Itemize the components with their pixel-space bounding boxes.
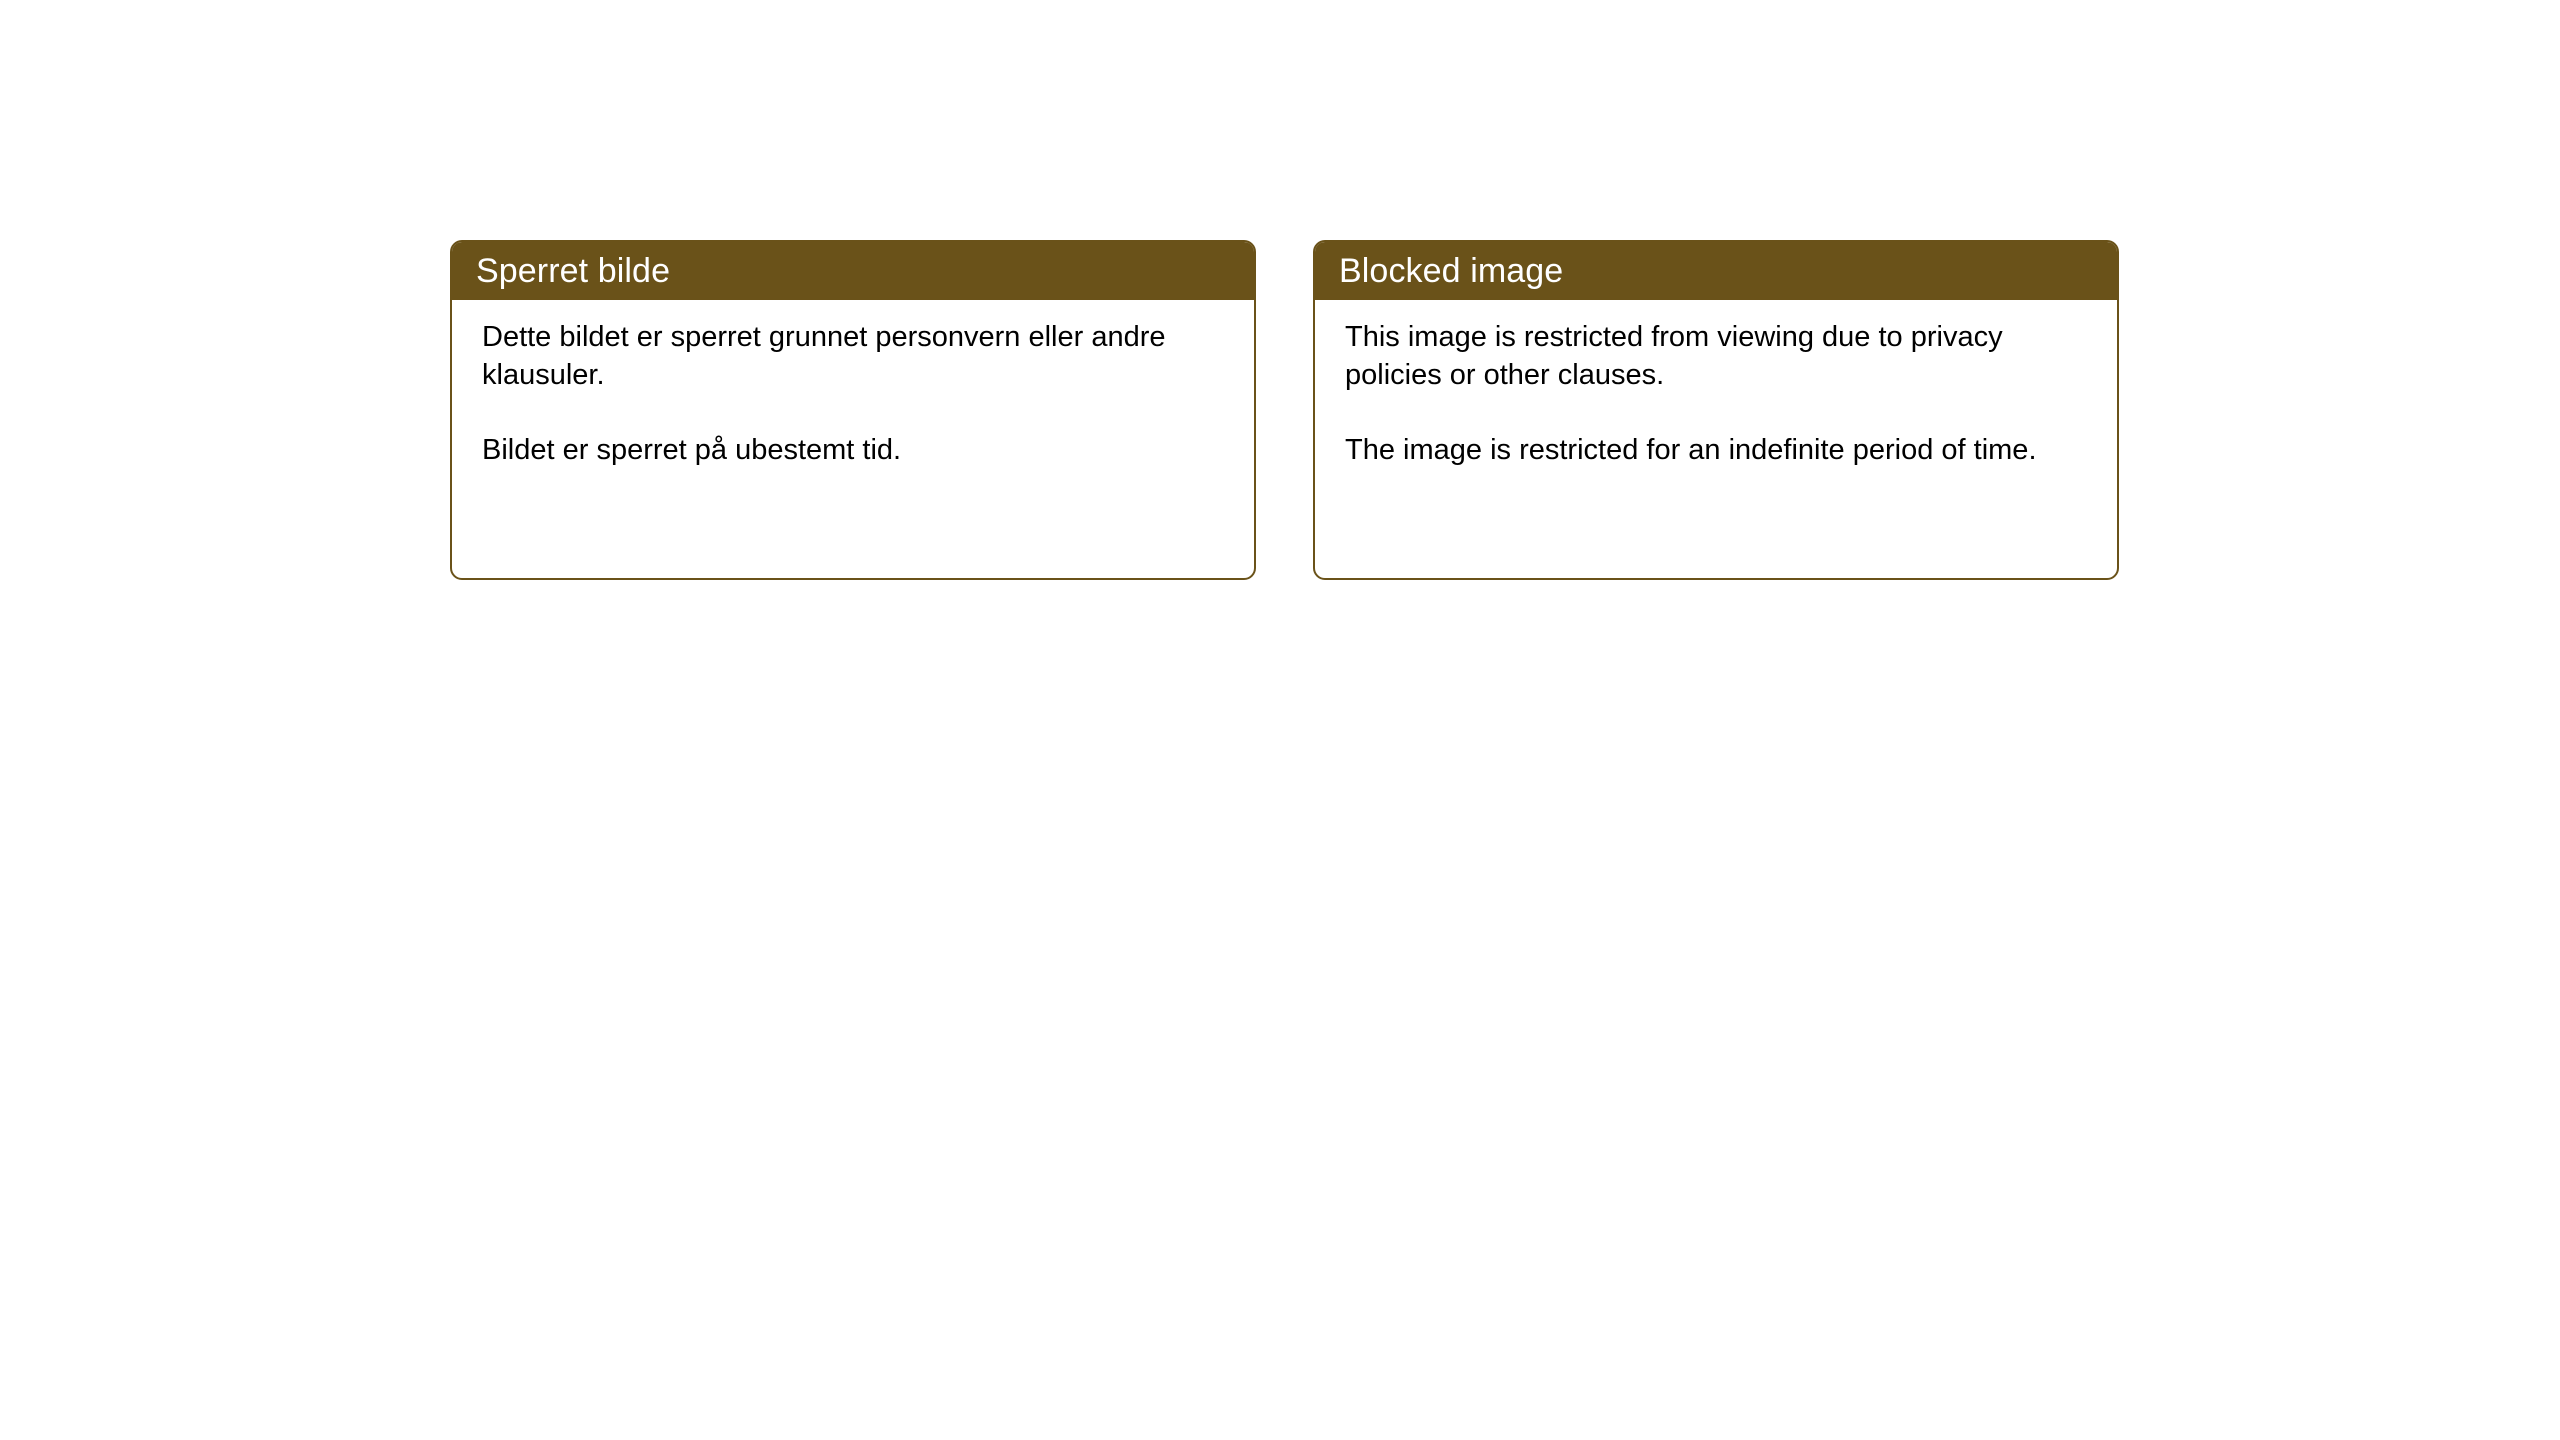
card-title-en: Blocked image [1339, 254, 1563, 288]
card-body-en: This image is restricted from viewing du… [1315, 300, 2117, 578]
blocked-image-notice-card-en: Blocked image This image is restricted f… [1313, 240, 2119, 580]
card-title-no: Sperret bilde [476, 254, 670, 288]
page-canvas: Sperret bilde Dette bildet er sperret gr… [0, 0, 2560, 1440]
card-paragraph-reason-no: Dette bildet er sperret grunnet personve… [482, 318, 1228, 395]
blocked-image-notice-card-no: Sperret bilde Dette bildet er sperret gr… [450, 240, 1256, 580]
card-paragraph-reason-en: This image is restricted from viewing du… [1345, 318, 2091, 395]
card-body-no: Dette bildet er sperret grunnet personve… [452, 300, 1254, 578]
card-header-en: Blocked image [1315, 242, 2117, 300]
card-paragraph-duration-no: Bildet er sperret på ubestemt tid. [482, 431, 1228, 469]
card-paragraph-duration-en: The image is restricted for an indefinit… [1345, 431, 2091, 469]
card-header-no: Sperret bilde [452, 242, 1254, 300]
